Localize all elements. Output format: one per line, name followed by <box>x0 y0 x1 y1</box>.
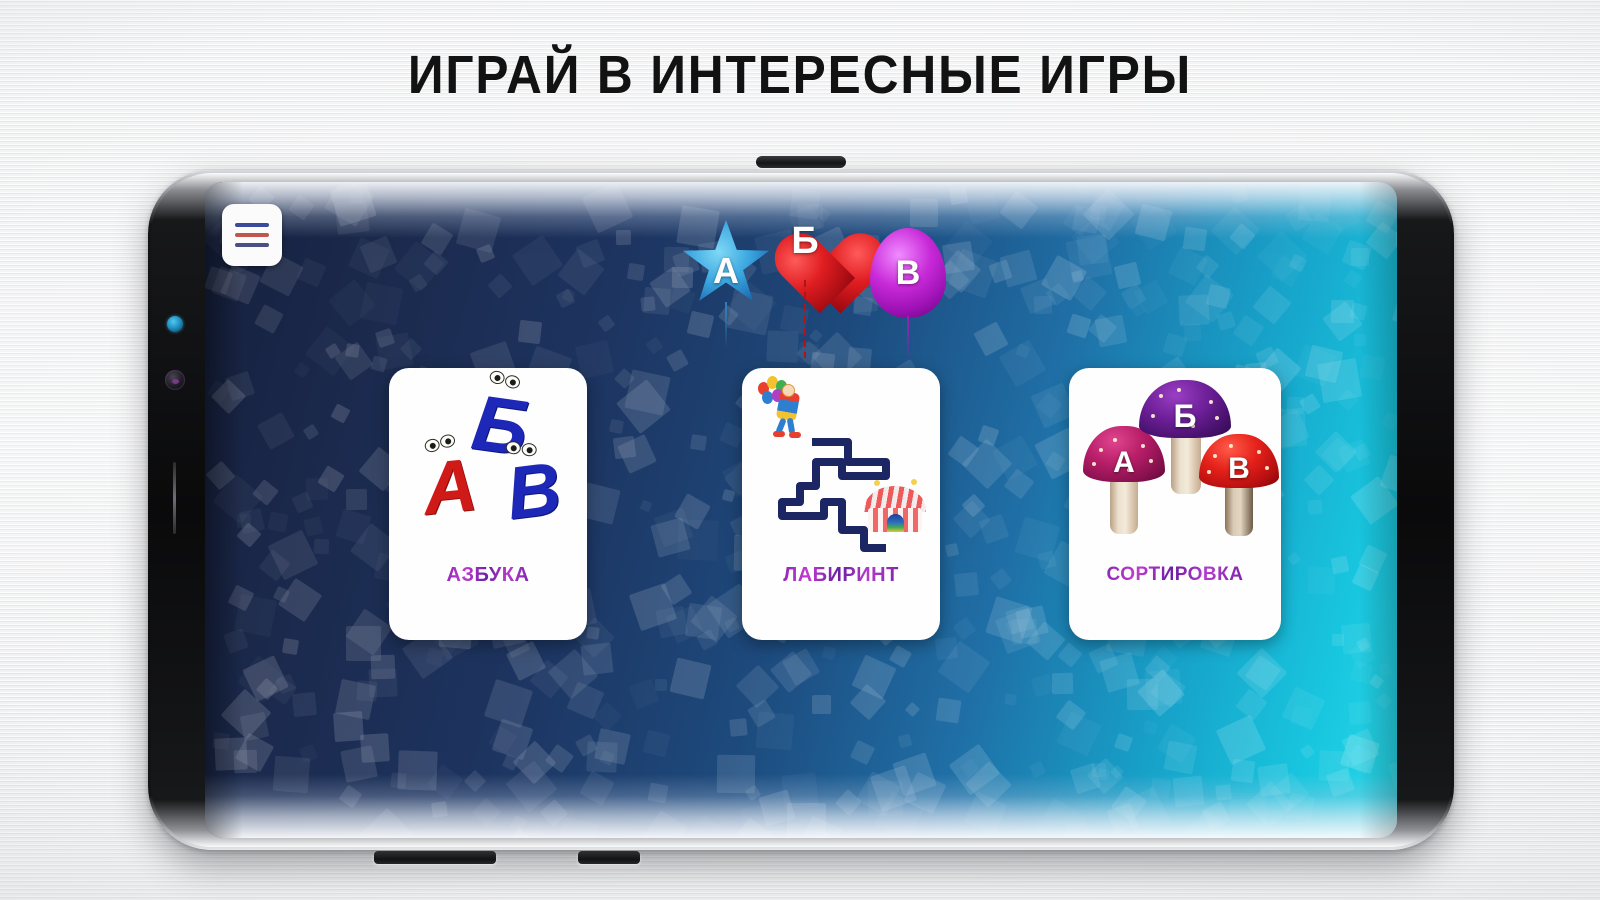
alphabet-letters-icon: А Б В <box>389 368 587 564</box>
game-card-list: А Б В <box>205 182 1397 838</box>
game-card-label: СОРТИРОВКА <box>1107 564 1244 586</box>
tent-flag-icon <box>874 480 880 486</box>
earpiece-speaker-icon <box>756 156 846 168</box>
mushroom-v-icon: В <box>1199 434 1279 538</box>
mushroom-letter: Б <box>1139 398 1231 435</box>
usb-port-slot-icon <box>578 851 640 864</box>
promo-screenshot-root: ИГРАЙ В ИНТЕРЕСНЫЕ ИГРЫ А <box>0 0 1600 900</box>
phone-side-button[interactable] <box>173 462 176 534</box>
page-title: ИГРАЙ В ИНТЕРЕСНЫЕ ИГРЫ <box>64 44 1536 106</box>
mushrooms-sorting-icon: А Б <box>1069 368 1281 564</box>
game-card-azbuka[interactable]: А Б В <box>389 368 587 640</box>
maze-clown-tent-icon <box>742 368 940 564</box>
circus-tent-icon <box>864 476 926 534</box>
letter-v-icon: В <box>503 451 565 531</box>
game-card-labirint[interactable]: ЛАБИРИНТ <box>742 368 940 640</box>
speaker-slot-icon <box>374 851 496 864</box>
tent-door-icon <box>887 514 904 532</box>
phone-screen: А Б В <box>205 182 1397 838</box>
mushroom-spots-icon <box>1199 434 1279 538</box>
phone-device-frame: А Б В <box>148 170 1454 850</box>
tent-flag-icon <box>911 479 917 485</box>
front-camera-icon <box>165 370 185 390</box>
game-card-label: АЗБУКА <box>447 564 530 587</box>
game-card-sortirovka[interactable]: А Б <box>1069 368 1281 640</box>
letter-glyph: В <box>503 451 565 531</box>
mushroom-letter: В <box>1199 452 1279 486</box>
proximity-sensor-icon <box>167 316 183 332</box>
